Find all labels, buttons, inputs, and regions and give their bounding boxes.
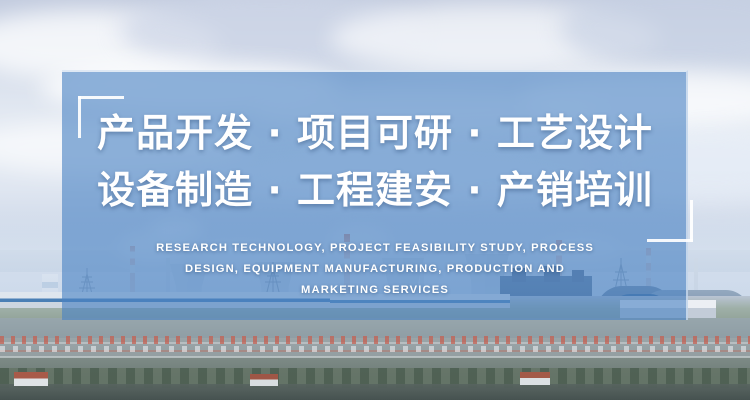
subtitle: RESEARCH TECHNOLOGY, PROJECT FEASIBILITY… (92, 238, 658, 301)
headline-line-1: 产品开发 · 项目可研 · 工艺设计 (62, 105, 688, 162)
corner-bracket-bottom-right-icon (647, 200, 693, 242)
hero-banner: 产品开发 · 项目可研 · 工艺设计 设备制造 · 工程建安 · 产销培训 RE… (0, 0, 750, 400)
subtitle-line-2: DESIGN, EQUIPMENT MANUFACTURING, PRODUCT… (92, 259, 658, 280)
house-red-roof (250, 374, 278, 386)
foreground-shadow (0, 384, 750, 400)
house-red-roof (14, 372, 48, 386)
subtitle-line-1: RESEARCH TECHNOLOGY, PROJECT FEASIBILITY… (92, 238, 658, 259)
parked-vehicles (0, 346, 750, 352)
content-overlay-panel: 产品开发 · 项目可研 · 工艺设计 设备制造 · 工程建安 · 产销培训 RE… (62, 70, 688, 320)
house-red-roof (520, 372, 550, 385)
headline: 产品开发 · 项目可研 · 工艺设计 设备制造 · 工程建安 · 产销培训 (62, 105, 688, 219)
parked-vehicles (0, 336, 750, 344)
headline-line-2: 设备制造 · 工程建安 · 产销培训 (62, 162, 688, 219)
subtitle-line-3: MARKETING SERVICES (92, 280, 658, 301)
